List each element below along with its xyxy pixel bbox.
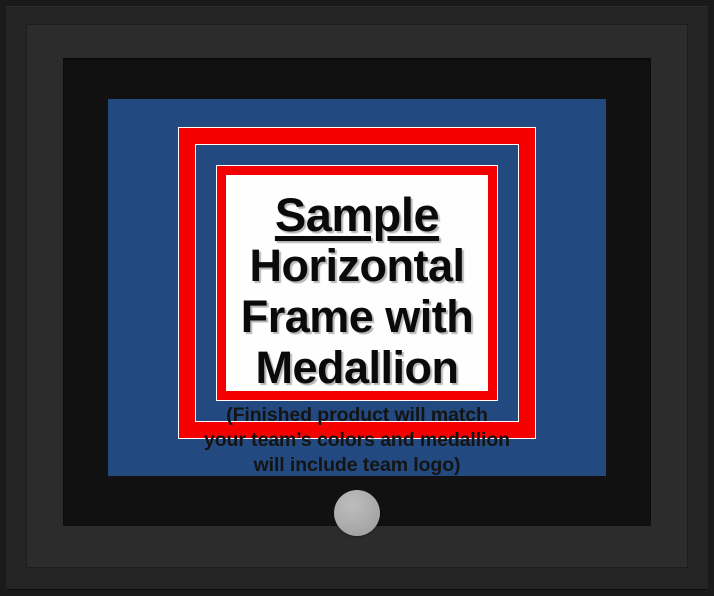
border-band-red-inner: Sample Horizontal Frame with Medallion (…	[216, 165, 498, 401]
medallion-disc	[334, 490, 380, 536]
framed-artwork-photo: Sample Horizontal Frame with Medallion (…	[0, 0, 714, 596]
headline-line-frame-with: Frame with	[241, 291, 474, 342]
headline-line-medallion: Medallion	[255, 342, 458, 393]
headline-line-horizontal: Horizontal	[250, 240, 465, 291]
disclaimer-note: (Finished product will match your team’s…	[204, 403, 510, 478]
headline-sample: Sample	[275, 191, 439, 240]
border-band-red-outer: Sample Horizontal Frame with Medallion (…	[178, 127, 536, 439]
certificate-panel: Sample Horizontal Frame with Medallion (…	[226, 175, 488, 391]
mat-board-blue: Sample Horizontal Frame with Medallion (…	[108, 99, 606, 476]
disclaimer-note-line-2: your team’s colors and medallion	[204, 428, 510, 453]
border-band-blue-middle: Sample Horizontal Frame with Medallion (…	[195, 144, 519, 422]
frame-inner-lip: Sample Horizontal Frame with Medallion (…	[63, 58, 651, 526]
frame-bevel-middle: Sample Horizontal Frame with Medallion (…	[26, 24, 688, 568]
disclaimer-note-line-3: will include team logo)	[204, 453, 510, 478]
disclaimer-note-line-1: (Finished product will match	[204, 403, 510, 428]
